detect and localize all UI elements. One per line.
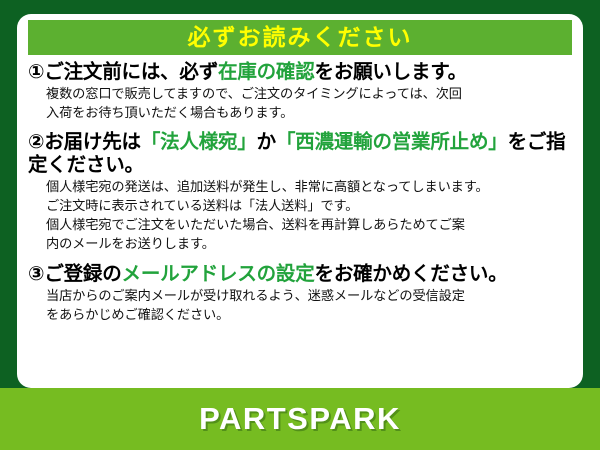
item-3-body: 当店からのご案内メールが受け取れるよう、迷惑メールなどの受信設定 をあらかじめご… [46,287,575,324]
notice-item-1: ①ご注文前には、必ず在庫の確認をお願いします。 複数の窓口で販売してますので、ご… [28,61,575,122]
item-1-head-part-2: をお願いします。 [315,61,467,83]
footer-band: PARTSPARK [0,388,600,450]
item-1-body: 複数の窓口で販売してますので、ご注文のタイミングによっては、次回 入荷をお待ち頂… [46,85,575,122]
item-3-head-part-2: をお確かめください。 [315,263,508,285]
item-2-number: ② [28,131,44,153]
item-3-heading: ③ご登録のメールアドレスの設定をお確かめください。 [28,263,575,286]
item-3-body-line-0: 当店からのご案内メールが受け取れるよう、迷惑メールなどの受信設定 [46,287,575,306]
notice-banner: 必ずお読みください ①ご注文前には、必ず在庫の確認をお願いします。 複数の窓口で… [0,0,600,450]
item-3-head-part-1: メールアドレスの設定 [122,263,315,285]
item-1-head-part-1: 在庫の確認 [218,61,315,83]
item-2-head-part-0: お届け先は [44,131,141,153]
item-2-body-line-2: 個人様宅宛でご注文をいただいた場合、送料を再計算しあらためてご案 [46,216,575,235]
item-3-number: ③ [28,263,44,285]
item-2-head-part-1: 「法人様宛」 [141,131,257,153]
notice-card: 必ずお読みください ①ご注文前には、必ず在庫の確認をお願いします。 複数の窓口で… [17,14,583,388]
notice-item-2: ②お届け先は「法人様宛」か「西濃運輸の営業所止め」をご指定ください。 個人様宅宛… [28,131,575,253]
page-title: 必ずお読みください [188,26,413,49]
item-3-body-line-1: をあらかじめご確認ください。 [46,306,575,325]
header-bar: 必ずお読みください [28,20,572,55]
item-1-heading: ①ご注文前には、必ず在庫の確認をお願いします。 [28,61,575,84]
item-1-body-line-1: 入荷をお待ち頂いただく場合もあります。 [46,104,575,123]
item-2-body-line-3: 内のメールをお送りします。 [46,235,575,254]
item-1-number: ① [28,61,44,83]
item-2-body-line-1: ご注文時に表示されている送料は「法人送料」です。 [46,197,575,216]
notice-body: ①ご注文前には、必ず在庫の確認をお願いします。 複数の窓口で販売してますので、ご… [28,61,575,386]
item-2-body: 個人様宅宛の発送は、追加送料が発生し、非常に高額となってしまいます。 ご注文時に… [46,178,575,253]
item-2-head-part-2: か [257,131,276,153]
item-1-body-line-0: 複数の窓口で販売してますので、ご注文のタイミングによっては、次回 [46,85,575,104]
item-2-body-line-0: 個人様宅宛の発送は、追加送料が発生し、非常に高額となってしまいます。 [46,178,575,197]
brand-logo-partspark: PARTSPARK [199,401,401,437]
item-2-head-part-3: 「西濃運輸の営業所止め」 [276,131,508,153]
item-1-head-part-0: ご注文前には、必ず [44,61,218,83]
item-2-heading: ②お届け先は「法人様宛」か「西濃運輸の営業所止め」をご指定ください。 [28,131,575,177]
item-3-head-part-0: ご登録の [44,263,121,285]
notice-item-3: ③ご登録のメールアドレスの設定をお確かめください。 当店からのご案内メールが受け… [28,263,575,324]
